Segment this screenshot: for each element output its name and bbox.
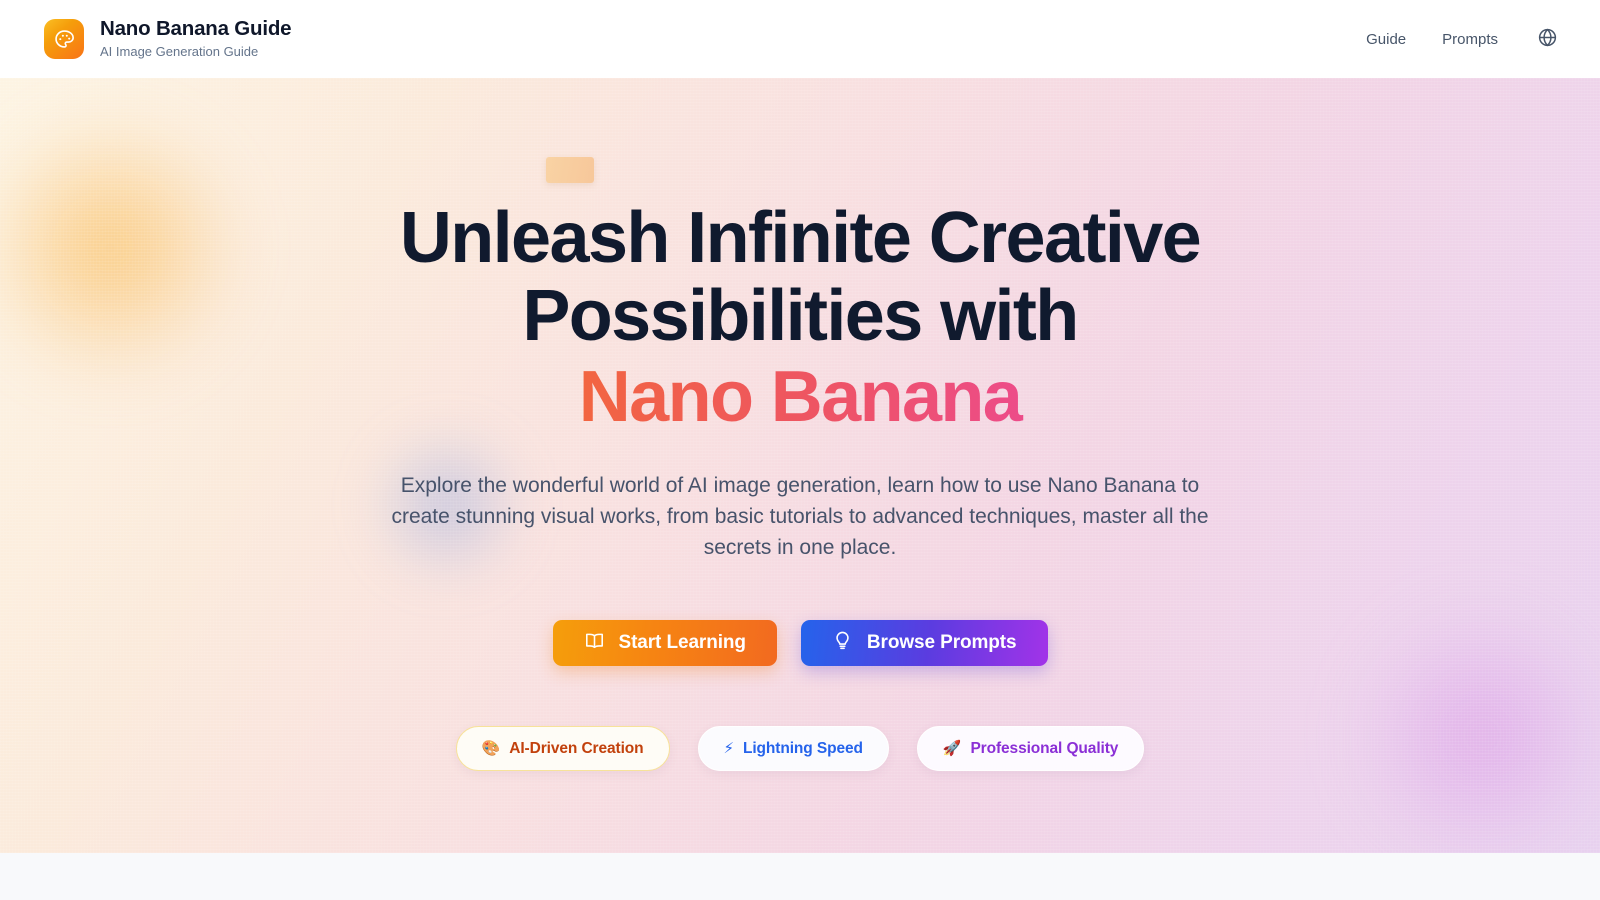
- hero-heading: Unleash Infinite Creative Possibilities …: [280, 202, 1320, 433]
- hero-heading-line-1: Unleash Infinite Creative: [400, 198, 1200, 278]
- pill-lightning-speed-label: Lightning Speed: [743, 740, 863, 758]
- hero-cta-row: Start Learning Browse Prompts: [280, 620, 1320, 666]
- browse-prompts-label: Browse Prompts: [867, 632, 1017, 654]
- hero-badge-placeholder: [546, 157, 594, 183]
- start-learning-button[interactable]: Start Learning: [553, 620, 777, 666]
- palette-icon: [44, 19, 84, 59]
- brand-subtitle: AI Image Generation Guide: [100, 43, 291, 61]
- hero-feature-pills: 🎨 AI-Driven Creation ⚡ Lightning Speed 🚀…: [280, 726, 1320, 771]
- nav-link-guide[interactable]: Guide: [1366, 32, 1406, 47]
- pill-lightning-speed[interactable]: ⚡ Lightning Speed: [698, 726, 889, 771]
- pill-ai-driven-creation[interactable]: 🎨 AI-Driven Creation: [456, 726, 670, 771]
- palette-emoji-icon: 🎨: [482, 741, 501, 756]
- start-learning-label: Start Learning: [619, 632, 746, 654]
- decorative-blob-purple: [1355, 608, 1600, 853]
- hero-heading-gradient-word: Nano Banana: [280, 361, 1320, 433]
- globe-icon: [1537, 27, 1558, 51]
- hero-section: Unleash Infinite Creative Possibilities …: [0, 78, 1600, 853]
- lightbulb-icon: [832, 630, 853, 657]
- book-open-icon: [584, 630, 605, 657]
- main-navigation: Guide Prompts: [1366, 26, 1560, 52]
- hero-subtitle: Explore the wonderful world of AI image …: [382, 470, 1218, 563]
- brand-logo-group[interactable]: Nano Banana Guide AI Image Generation Gu…: [44, 17, 291, 61]
- site-header: Nano Banana Guide AI Image Generation Gu…: [0, 0, 1600, 78]
- pill-professional-quality-label: Professional Quality: [970, 740, 1118, 758]
- page-title: Nano Banana Guide: [100, 17, 291, 41]
- rocket-emoji-icon: 🚀: [943, 741, 962, 756]
- nav-link-prompts[interactable]: Prompts: [1442, 32, 1498, 47]
- next-section-top: [0, 853, 1600, 900]
- decorative-blob-orange: [0, 113, 245, 383]
- hero-content: Unleash Infinite Creative Possibilities …: [280, 78, 1320, 771]
- brand-text: Nano Banana Guide AI Image Generation Gu…: [100, 17, 291, 61]
- pill-professional-quality[interactable]: 🚀 Professional Quality: [917, 726, 1144, 771]
- hero-heading-line-2: Possibilities with: [280, 280, 1320, 352]
- pill-ai-driven-creation-label: AI-Driven Creation: [509, 740, 643, 758]
- lightning-emoji-icon: ⚡: [724, 741, 734, 756]
- browse-prompts-button[interactable]: Browse Prompts: [801, 620, 1048, 666]
- language-switch-button[interactable]: [1534, 26, 1560, 52]
